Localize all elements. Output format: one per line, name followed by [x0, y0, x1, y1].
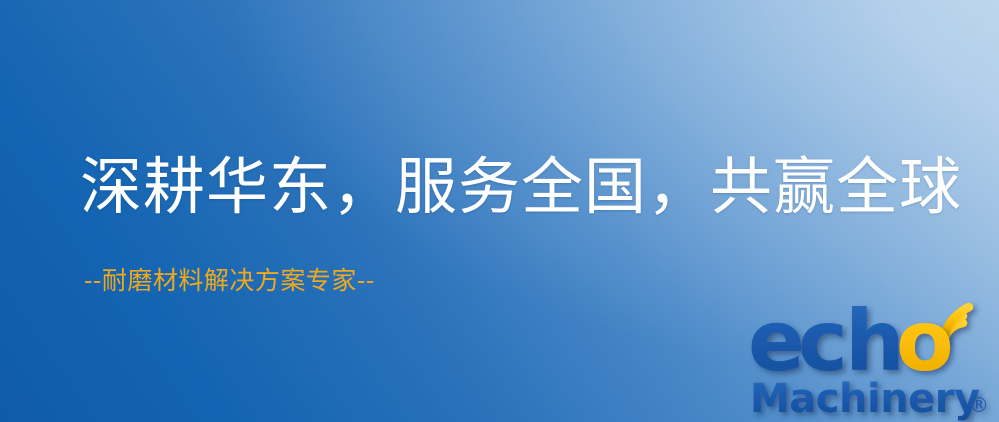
company-logo[interactable]: e c h o Machinery ®	[748, 292, 996, 420]
page-title: 深耕华东，服务全国，共赢全球	[80, 152, 962, 221]
logo-trademark-icon: ®	[969, 393, 989, 417]
logo-tagline-machinery: Machinery	[750, 376, 980, 422]
hero-banner: 深耕华东，服务全国，共赢全球 --耐磨材料解决方案专家--	[0, 0, 999, 422]
page-subtitle: --耐磨材料解决方案专家--	[84, 266, 375, 296]
echo-machinery-logo-graphic: e c h o Machinery ®	[748, 292, 996, 420]
